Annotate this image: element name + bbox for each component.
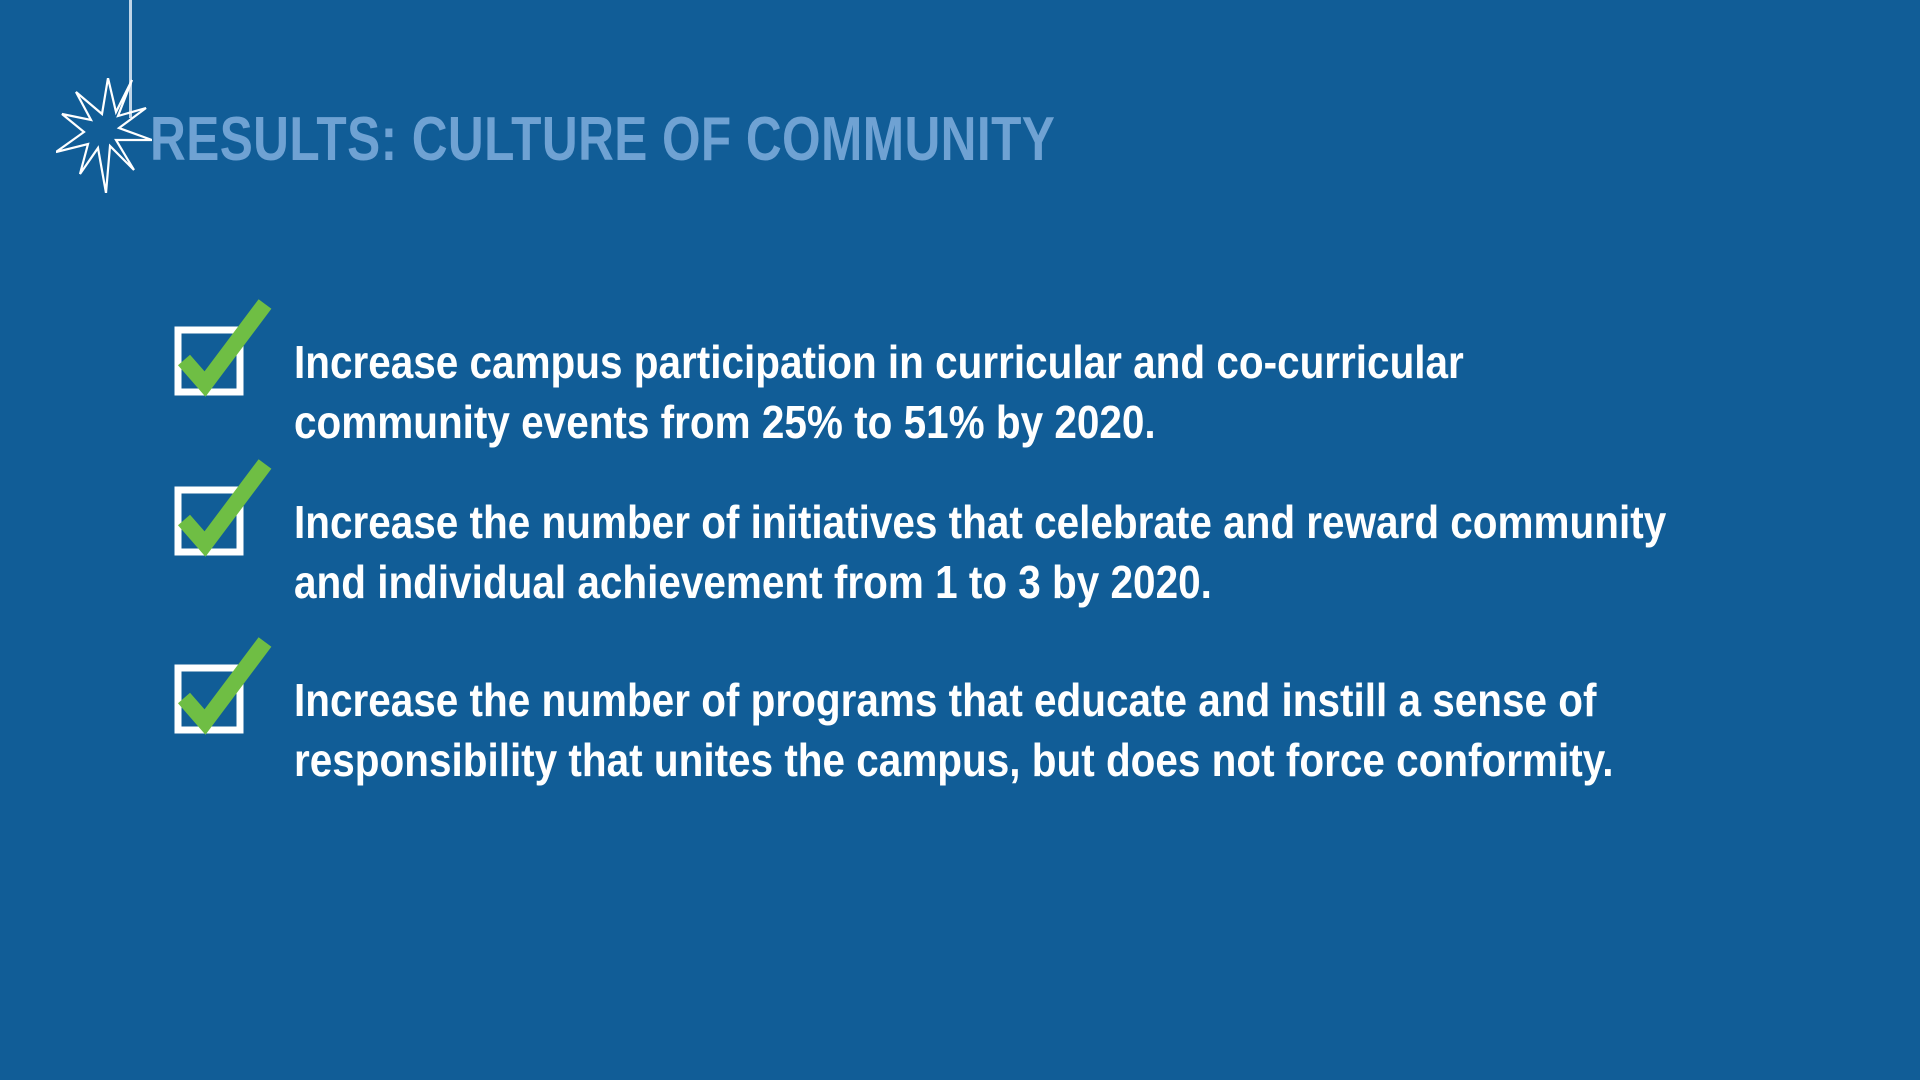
checked-checkbox-icon[interactable] <box>170 458 282 562</box>
list-item: Increase the number of programs that edu… <box>170 636 1870 790</box>
list-item-text: Increase campus participation in curricu… <box>294 332 1681 452</box>
list-item-text: Increase the number of initiatives that … <box>294 492 1681 612</box>
starburst-icon <box>56 78 152 193</box>
list-item: Increase the number of initiatives that … <box>170 458 1870 612</box>
presentation-slide: RESULTS: CULTURE OF COMMUNITY Increase c… <box>0 0 1920 1080</box>
checked-checkbox-icon[interactable] <box>170 298 282 402</box>
page-title: RESULTS: CULTURE OF COMMUNITY <box>150 104 1055 176</box>
list-item: Increase campus participation in curricu… <box>170 298 1870 452</box>
list-item-text: Increase the number of programs that edu… <box>294 670 1681 790</box>
checked-checkbox-icon[interactable] <box>170 636 282 740</box>
